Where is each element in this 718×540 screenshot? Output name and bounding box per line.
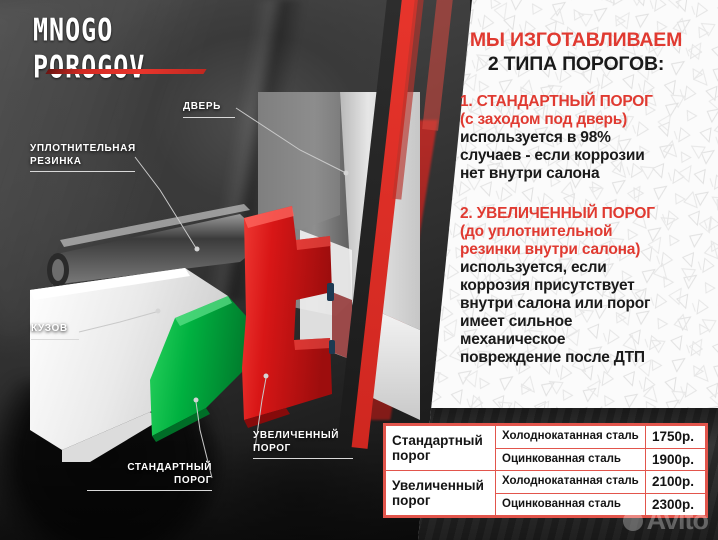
block2-body-line1: используется, если xyxy=(460,259,708,277)
callout-standard-sill: СТАНДАРТНЫЙ ПОРОГ xyxy=(87,462,212,491)
info-block-standard: 1. СТАНДАРТНЫЙ ПОРОГ (с заходом под двер… xyxy=(460,93,708,183)
callout-seal-label-line1: УПЛОТНИТЕЛЬНАЯ xyxy=(30,143,136,154)
callout-door-label: ДВЕРЬ xyxy=(183,101,221,112)
info-block-extended: 2. УВЕЛИЧЕННЫЙ ПОРОГ (до уплотнительной … xyxy=(460,205,708,367)
callout-standard-line2: ПОРОГ xyxy=(174,475,212,486)
row-type-extended: Увеличенный порог xyxy=(386,471,496,516)
row-price: 2300р. xyxy=(646,493,706,516)
block1-subtitle: (с заходом под дверь) xyxy=(460,111,708,129)
block2-subtitle-line2: резинки внутри салона) xyxy=(460,241,708,259)
block1-body-line1: используется в 98% xyxy=(460,129,708,147)
callout-extended-line1: УВЕЛИЧЕННЫЙ xyxy=(253,430,339,441)
callout-underline xyxy=(183,117,235,118)
row-material: Оцинкованная сталь xyxy=(496,493,646,516)
block2-body-line5: механическое xyxy=(460,331,708,349)
table-row: Стандартный порог Холоднокатанная сталь … xyxy=(386,426,706,449)
block2-body-line3: внутри салона или порог xyxy=(460,295,708,313)
block2-body-line6: повреждение после ДТП xyxy=(460,349,708,367)
callout-body-label: КУЗОВ xyxy=(31,323,68,334)
heading-dark-line: 2 ТИПА ПОРОГОВ: xyxy=(442,54,710,76)
callout-underline xyxy=(30,171,135,172)
block2-title: 2. УВЕЛИЧЕННЫЙ ПОРОГ xyxy=(460,205,708,223)
block1-title: 1. СТАНДАРТНЫЙ ПОРОГ xyxy=(460,93,708,111)
callout-seal: УПЛОТНИТЕЛЬНАЯ РЕЗИНКА xyxy=(30,143,136,172)
row-material: Холоднокатанная сталь xyxy=(496,426,646,449)
price-table: Стандартный порог Холоднокатанная сталь … xyxy=(383,423,708,518)
panel-heading: МЫ ИЗГОТАВЛИВАЕМ 2 ТИПА ПОРОГОВ: xyxy=(442,30,710,76)
row-type-standard: Стандартный порог xyxy=(386,426,496,471)
callout-extended-line2: ПОРОГ xyxy=(253,443,291,454)
row-price: 1900р. xyxy=(646,448,706,471)
callout-door: ДВЕРЬ xyxy=(183,101,235,118)
callout-underline xyxy=(31,339,79,340)
row-price: 1750р. xyxy=(646,426,706,449)
callout-standard-line1: СТАНДАРТНЫЙ xyxy=(127,462,212,473)
callout-body: КУЗОВ xyxy=(31,323,79,340)
callout-underline xyxy=(253,458,353,459)
block2-body-line4: имеет сильное xyxy=(460,313,708,331)
row-price: 2100р. xyxy=(646,471,706,494)
callout-seal-label-line2: РЕЗИНКА xyxy=(30,156,82,167)
block2-body-line2: коррозия присутствует xyxy=(460,277,708,295)
row-material: Холоднокатанная сталь xyxy=(496,471,646,494)
heading-red-line: МЫ ИЗГОТАВЛИВАЕМ xyxy=(442,30,710,52)
row-material: Оцинкованная сталь xyxy=(496,448,646,471)
table-row: Увеличенный порог Холоднокатанная сталь … xyxy=(386,471,706,494)
infographic-root: MNOGO POROGOV xyxy=(0,0,718,540)
block1-body-line3: нет внутри салона xyxy=(460,165,708,183)
callout-underline xyxy=(87,490,212,491)
block1-body-line2: случаев - если коррозии xyxy=(460,147,708,165)
block2-subtitle-line1: (до уплотнительной xyxy=(460,223,708,241)
